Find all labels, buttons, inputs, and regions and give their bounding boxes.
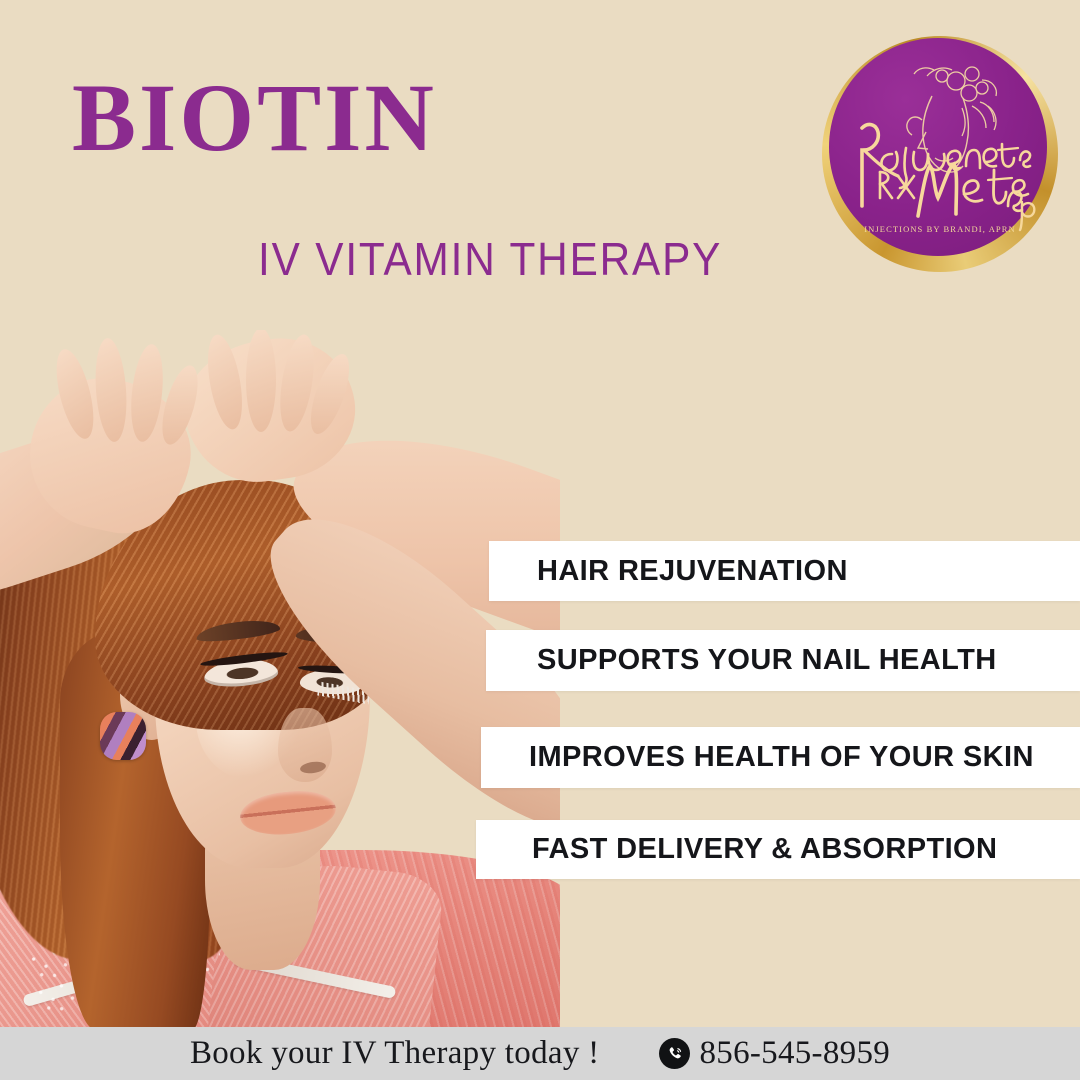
benefit-bar[interactable]: IMPROVES HEALTH OF YOUR SKIN (481, 727, 1080, 788)
benefit-bar[interactable]: HAIR REJUVENATION (489, 541, 1080, 601)
earring (100, 712, 146, 760)
logo-artwork-icon (822, 36, 1058, 272)
benefit-bar[interactable]: SUPPORTS YOUR NAIL HEALTH (486, 630, 1080, 691)
phone-call-icon (659, 1038, 690, 1069)
phone-number: 856-545-8959 (699, 1035, 890, 1072)
benefit-label: SUPPORTS YOUR NAIL HEALTH (537, 644, 997, 677)
benefit-label: FAST DELIVERY & ABSORPTION (532, 833, 997, 866)
page-subtitle: IV VITAMIN THERAPY (258, 232, 722, 286)
poster-canvas: BIOTIN IV VITAMIN THERAPY (0, 0, 1080, 1080)
brand-logo[interactable]: INJECTIONS BY BRANDI, APRN (822, 36, 1058, 272)
model-photo (0, 330, 560, 1030)
benefit-bar[interactable]: FAST DELIVERY & ABSORPTION (476, 820, 1080, 879)
finger (246, 330, 276, 432)
logo-tagline: INJECTIONS BY BRANDI, APRN (822, 224, 1058, 234)
footer-phone[interactable]: 856-545-8959 (659, 1035, 890, 1072)
photo-backdrop (0, 330, 560, 1030)
footer-bar: Book your IV Therapy today ! 856-545-895… (0, 1027, 1080, 1080)
page-title: BIOTIN (72, 70, 437, 166)
footer-cta-text: Book your IV Therapy today ! (190, 1035, 600, 1072)
benefit-label: HAIR REJUVENATION (537, 555, 848, 588)
benefit-label: IMPROVES HEALTH OF YOUR SKIN (529, 741, 1034, 774)
